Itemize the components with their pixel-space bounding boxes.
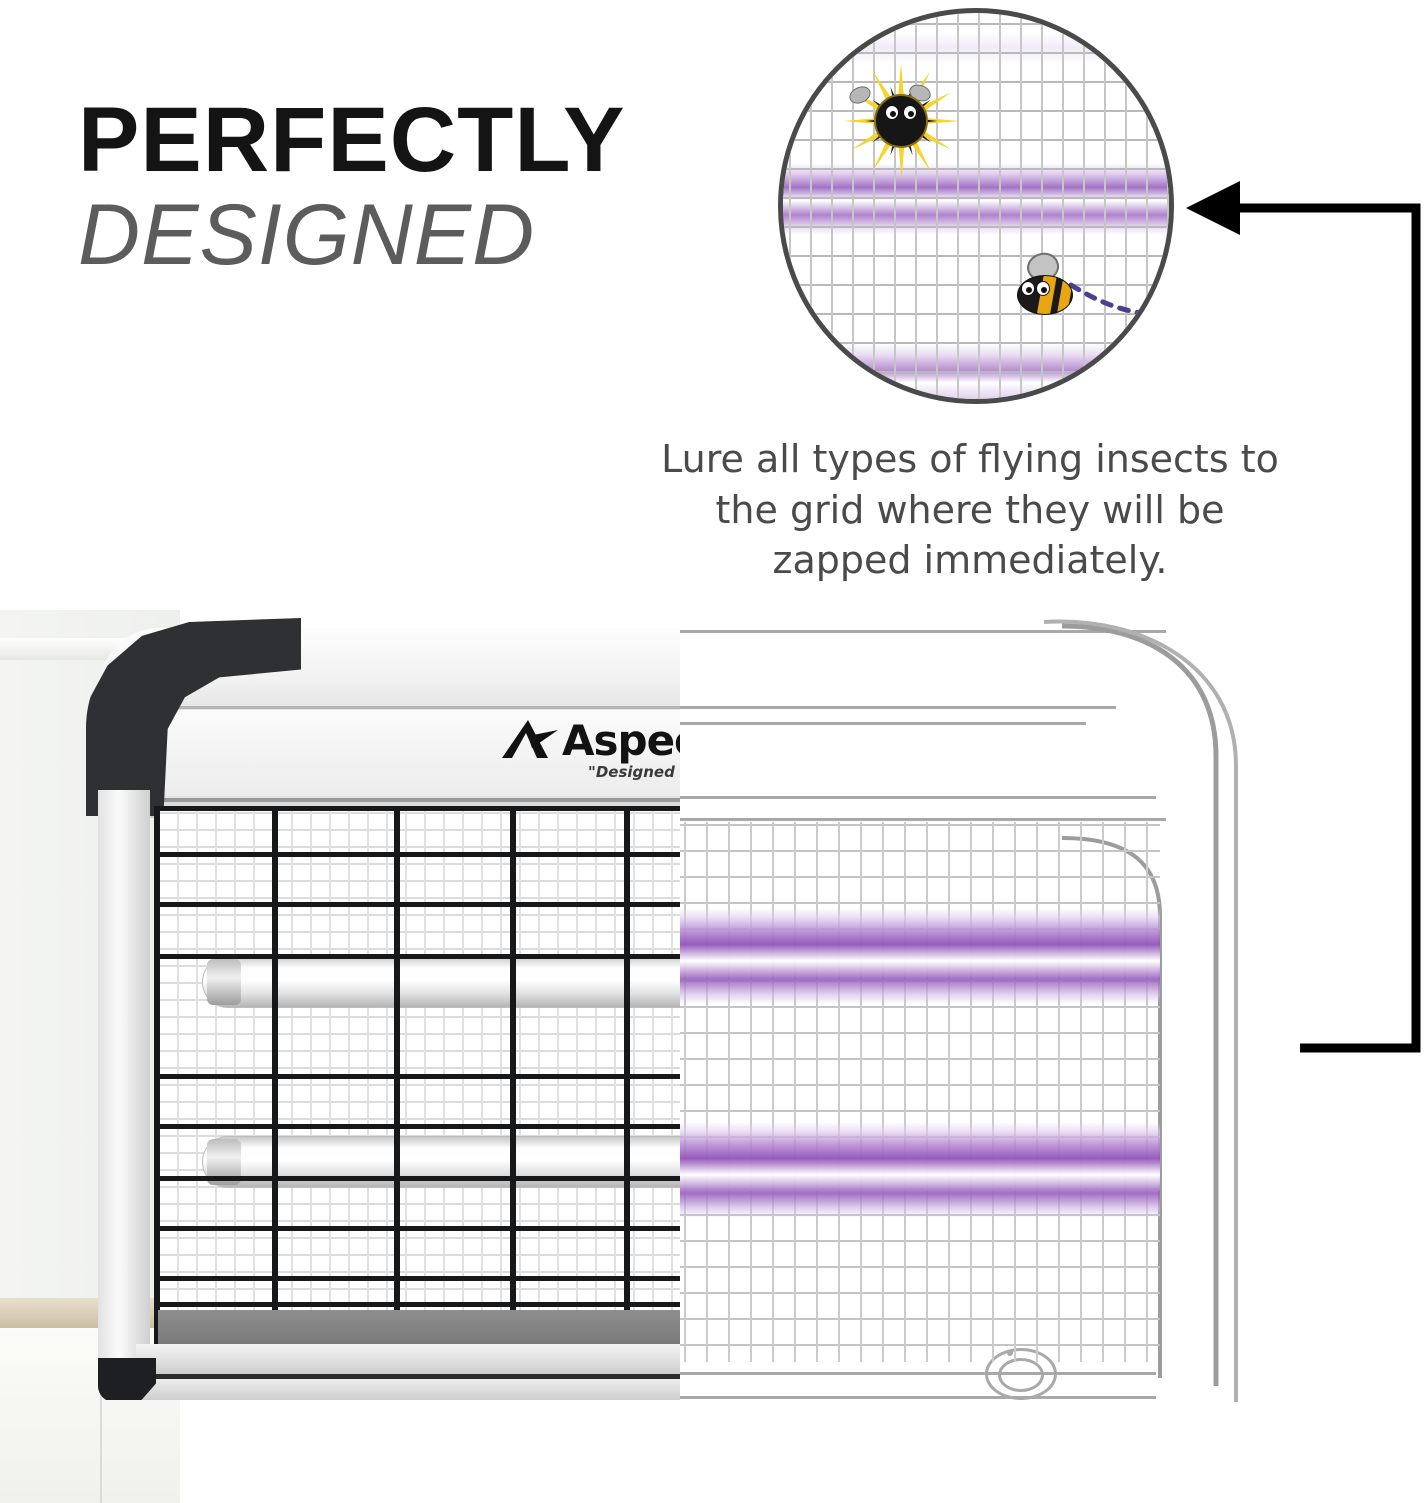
inner-mesh-vertical <box>367 806 369 1354</box>
illus-grid-vertical <box>904 822 906 1362</box>
mesh-wire-vertical <box>831 8 833 404</box>
mesh-wire-vertical <box>810 8 812 404</box>
inner-mesh-horizontal <box>154 1271 680 1273</box>
mesh-wire-vertical <box>1020 8 1022 404</box>
inner-mesh-horizontal <box>154 931 680 933</box>
inner-mesh-horizontal <box>154 1203 680 1205</box>
illus-uv-glow-upper <box>680 908 1160 1004</box>
cage-bar-horizontal <box>154 1074 680 1079</box>
headline-line-2: DESIGNED <box>78 190 698 280</box>
illus-grid-vertical <box>838 822 840 1362</box>
illus-grid-horizontal <box>680 1084 1160 1086</box>
inner-mesh-vertical <box>405 806 407 1354</box>
inner-mesh-horizontal <box>154 1033 680 1035</box>
illus-grid-horizontal <box>680 876 1160 878</box>
mesh-wire-horizontal <box>778 255 1174 257</box>
mesh-wire-horizontal <box>778 371 1174 373</box>
cage-bar-horizontal <box>154 1302 680 1307</box>
illus-grid-vertical <box>948 822 950 1362</box>
inner-mesh-horizontal <box>154 1237 680 1239</box>
inner-mesh-vertical <box>481 806 483 1354</box>
inner-mesh-horizontal <box>154 880 680 882</box>
inner-mesh-horizontal <box>154 1016 680 1018</box>
illus-grid-horizontal <box>680 1266 1160 1268</box>
illus-grid-horizontal <box>680 902 1160 904</box>
zapped-insect-body <box>874 94 928 148</box>
inner-mesh-vertical <box>443 806 445 1354</box>
illus-grid-vertical <box>926 822 928 1362</box>
inner-mesh-vertical <box>386 806 388 1354</box>
inner-mesh-vertical <box>614 806 616 1354</box>
brand-name: Aspectek® <box>562 722 680 760</box>
inner-mesh-vertical <box>652 806 654 1354</box>
illus-grid-vertical <box>1036 822 1038 1362</box>
illus-grid-vertical <box>992 822 994 1362</box>
inner-mesh-horizontal <box>154 1254 680 1256</box>
illus-grid-vertical <box>1080 822 1082 1362</box>
illus-seam-upper-2 <box>680 722 1086 725</box>
inner-mesh-horizontal <box>154 829 680 831</box>
illus-grid-vertical <box>684 822 686 1362</box>
cage-bar-vertical <box>154 806 160 1354</box>
illus-grid-area <box>680 822 1160 1362</box>
inner-mesh-vertical <box>633 806 635 1354</box>
illus-grid-vertical <box>1124 822 1126 1362</box>
cage-bar-horizontal <box>154 1226 680 1231</box>
bee-stripe-2 <box>1055 275 1073 315</box>
illus-grid-vertical <box>970 822 972 1362</box>
illus-uv-glow-lower <box>680 1122 1160 1218</box>
illus-grid-horizontal <box>680 1110 1160 1112</box>
inner-mesh-vertical <box>177 806 179 1354</box>
mesh-wire-vertical <box>999 8 1001 404</box>
mesh-wire-vertical <box>1062 8 1064 404</box>
inner-mesh-horizontal <box>154 863 680 865</box>
product-illustration-body: Aspectek® "Designed for you." <box>680 610 1300 1410</box>
inner-mesh-vertical <box>519 806 521 1354</box>
inner-mesh-horizontal <box>154 846 680 848</box>
illus-grid-vertical <box>1102 822 1104 1362</box>
inner-mesh-vertical <box>595 806 597 1354</box>
mesh-wire-vertical <box>978 8 980 404</box>
illus-grid-horizontal <box>680 1318 1160 1320</box>
illus-grid-vertical <box>772 822 774 1362</box>
inner-mesh-horizontal <box>154 897 680 899</box>
illus-grid-horizontal <box>680 850 1160 852</box>
cage-bar-horizontal <box>154 1124 680 1129</box>
housing-seam-lower <box>98 798 680 802</box>
illus-grid-vertical <box>860 822 862 1362</box>
illus-grid-vertical <box>816 822 818 1362</box>
zapped-insect-eye-left <box>885 105 899 120</box>
inner-mesh-horizontal <box>154 1288 680 1290</box>
illus-grid-horizontal <box>680 1344 1160 1346</box>
brand-logo: Aspectek® "Designed for you." <box>502 718 680 796</box>
inner-mesh-horizontal <box>154 1084 680 1086</box>
inner-mesh-vertical <box>196 806 198 1354</box>
cage-bar-vertical <box>394 806 400 1354</box>
uv-tube-upper-cap <box>207 959 241 1005</box>
zapped-insect-eye-right <box>903 105 917 120</box>
product-photo-body: Aspectek® "Designed for you." <box>62 610 680 1400</box>
cage-bar-horizontal <box>154 852 680 857</box>
illus-grid-horizontal <box>680 1292 1160 1294</box>
mesh-wire-horizontal <box>778 23 1174 25</box>
product-photo-half: Aspectek® "Designed for you." <box>62 610 680 1400</box>
inner-mesh-vertical <box>234 806 236 1354</box>
cage-bar-horizontal <box>154 954 680 959</box>
illus-grid-horizontal <box>680 1240 1160 1242</box>
mesh-wire-horizontal <box>778 197 1174 199</box>
protective-cage-and-grid <box>154 806 680 1354</box>
inner-mesh-horizontal <box>154 948 680 950</box>
illus-grid-vertical <box>750 822 752 1362</box>
headline: PERFECTLY DESIGNED <box>78 96 698 281</box>
inner-mesh-horizontal <box>154 914 680 916</box>
inner-mesh-vertical <box>310 806 312 1354</box>
inner-mesh-horizontal <box>154 1118 680 1120</box>
illus-grid-vertical <box>728 822 730 1362</box>
illus-base-edge-2 <box>680 1396 1156 1399</box>
cage-bar-horizontal <box>154 902 680 907</box>
inner-mesh-horizontal <box>154 1101 680 1103</box>
inner-mesh-horizontal <box>154 1067 680 1069</box>
inner-mesh-vertical <box>557 806 559 1354</box>
illus-grid-vertical <box>1014 822 1016 1362</box>
cage-bar-vertical <box>272 806 278 1354</box>
inner-mesh-vertical <box>576 806 578 1354</box>
zap-burst-icon <box>835 55 967 187</box>
illus-grid-vertical <box>1146 822 1148 1362</box>
mesh-wire-horizontal <box>778 52 1174 54</box>
product-image: Aspectek® "Designed for you." <box>0 610 1300 1460</box>
inner-mesh-vertical <box>253 806 255 1354</box>
inner-mesh-horizontal <box>154 812 680 814</box>
illus-grid-horizontal <box>680 1032 1160 1034</box>
magnifier-callout-circle <box>778 8 1174 404</box>
inner-mesh-vertical <box>215 806 217 1354</box>
bee-icon <box>1011 261 1085 323</box>
inner-mesh-vertical <box>462 806 464 1354</box>
inner-mesh-vertical <box>329 806 331 1354</box>
cage-bar-vertical <box>510 806 516 1354</box>
mesh-wire-horizontal <box>778 226 1174 228</box>
collection-tray-base <box>136 1379 680 1400</box>
uv-glow-band-lower <box>778 343 1174 404</box>
mesh-wire-vertical <box>789 8 791 404</box>
housing-left-post <box>98 790 150 1390</box>
illus-grid-vertical <box>1058 822 1060 1362</box>
housing-seam-upper <box>98 706 680 709</box>
headline-line-1: PERFECTLY <box>78 96 698 184</box>
arrow-head-icon <box>1186 181 1240 235</box>
inner-mesh-vertical <box>538 806 540 1354</box>
illus-grid-vertical <box>706 822 708 1362</box>
inner-mesh-horizontal <box>154 1050 680 1052</box>
cage-bar-vertical <box>624 806 630 1354</box>
inner-mesh-vertical <box>291 806 293 1354</box>
illus-grid-horizontal <box>680 1058 1160 1060</box>
cage-bar-horizontal <box>154 1276 680 1281</box>
mesh-wire-vertical <box>1041 8 1043 404</box>
inner-mesh-vertical <box>348 806 350 1354</box>
product-illustration-half: Aspectek® "Designed for you." <box>680 610 1300 1410</box>
power-knob-inner-icon[interactable] <box>998 1358 1044 1392</box>
inner-mesh-vertical <box>671 806 673 1354</box>
inner-mesh-vertical <box>424 806 426 1354</box>
illus-grid-vertical <box>882 822 884 1362</box>
bee-eye-left <box>1021 281 1035 296</box>
inner-mesh-horizontal <box>154 1220 680 1222</box>
mesh-wire-horizontal <box>778 400 1174 402</box>
aspectek-a-mark-icon <box>502 718 560 760</box>
bee-eye-right <box>1036 281 1050 296</box>
illus-base-edge <box>680 1372 1156 1375</box>
inner-mesh-vertical <box>500 806 502 1354</box>
brand-tagline: "Designed for you." <box>588 763 680 781</box>
cage-bar-horizontal <box>154 806 680 811</box>
cage-bar-horizontal <box>154 1176 680 1181</box>
illus-grid-horizontal <box>680 824 1160 826</box>
magnifier-contents <box>783 13 1169 399</box>
illus-grid-vertical <box>794 822 796 1362</box>
illus-grid-horizontal <box>680 1006 1160 1008</box>
